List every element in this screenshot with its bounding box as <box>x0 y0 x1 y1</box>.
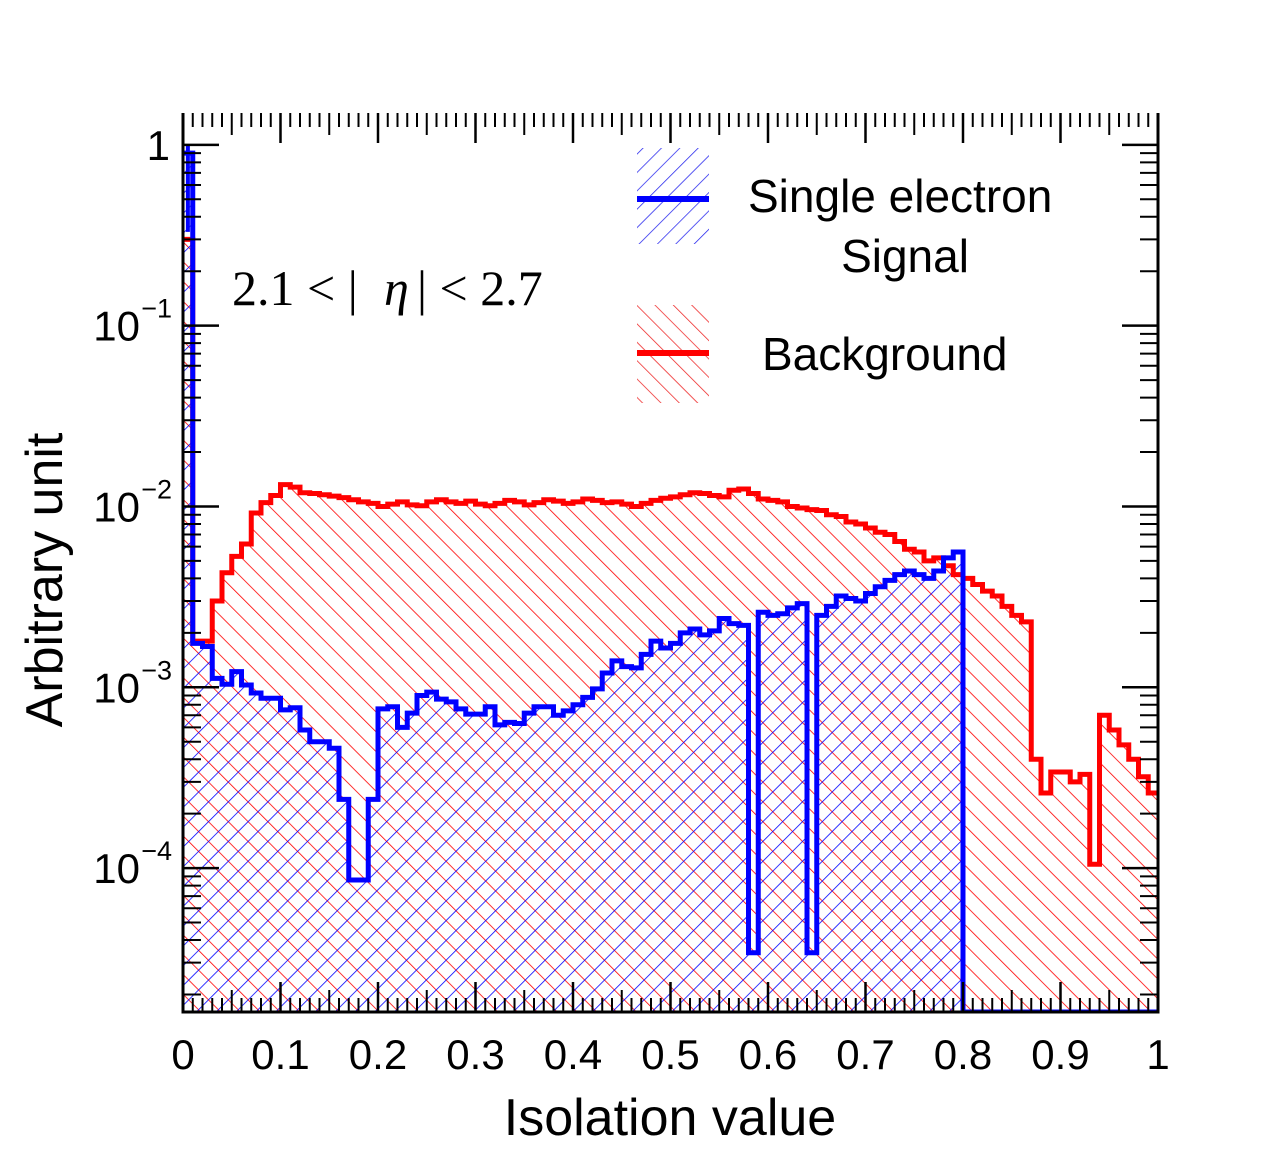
x-tick-label: 1 <box>1146 1031 1169 1078</box>
y-tick-label: 10 <box>93 845 140 892</box>
x-tick-label: 0 <box>171 1031 194 1078</box>
x-tick-label: 0.6 <box>739 1031 797 1078</box>
x-tick-label: 0.4 <box>544 1031 602 1078</box>
y-tick-label: 10 <box>93 664 140 711</box>
y-tick-exponent: −2 <box>141 474 172 504</box>
legend-label-signal-line2: Signal <box>841 230 969 282</box>
x-tick-label: 0.8 <box>934 1031 992 1078</box>
x-tick-label: 0.3 <box>446 1031 504 1078</box>
y-tick-exponent: −1 <box>141 294 172 324</box>
eta-range-annotation: 2.1 < | η | < 2.7 <box>232 260 543 316</box>
y-tick-label: 10 <box>93 483 140 530</box>
eta-text-prefix: 2.1 < | <box>232 260 358 316</box>
legend-label-signal-line1: Single electron <box>748 170 1052 222</box>
y-tick-exponent: −3 <box>141 655 172 685</box>
y-axis-title: Arbitrary unit <box>16 432 74 727</box>
x-tick-label: 0.7 <box>836 1031 894 1078</box>
x-tick-label: 0.1 <box>251 1031 309 1078</box>
x-tick-label: 0.5 <box>641 1031 699 1078</box>
x-axis-title: Isolation value <box>504 1089 836 1147</box>
eta-symbol: η <box>384 260 409 316</box>
chart-canvas: 110−110−210−310−4 00.10.20.30.40.50.60.7… <box>0 0 1286 1173</box>
x-tick-label: 0.9 <box>1031 1031 1089 1078</box>
y-tick-label: 10 <box>93 303 140 350</box>
x-tick-label: 0.2 <box>349 1031 407 1078</box>
isolation-value-histogram: 110−110−210−310−4 00.10.20.30.40.50.60.7… <box>0 0 1286 1173</box>
y-tick-label: 1 <box>147 122 170 169</box>
eta-text-suffix: | < 2.7 <box>417 260 543 316</box>
legend-label-background: Background <box>762 328 1008 380</box>
y-tick-exponent: −4 <box>141 836 172 866</box>
